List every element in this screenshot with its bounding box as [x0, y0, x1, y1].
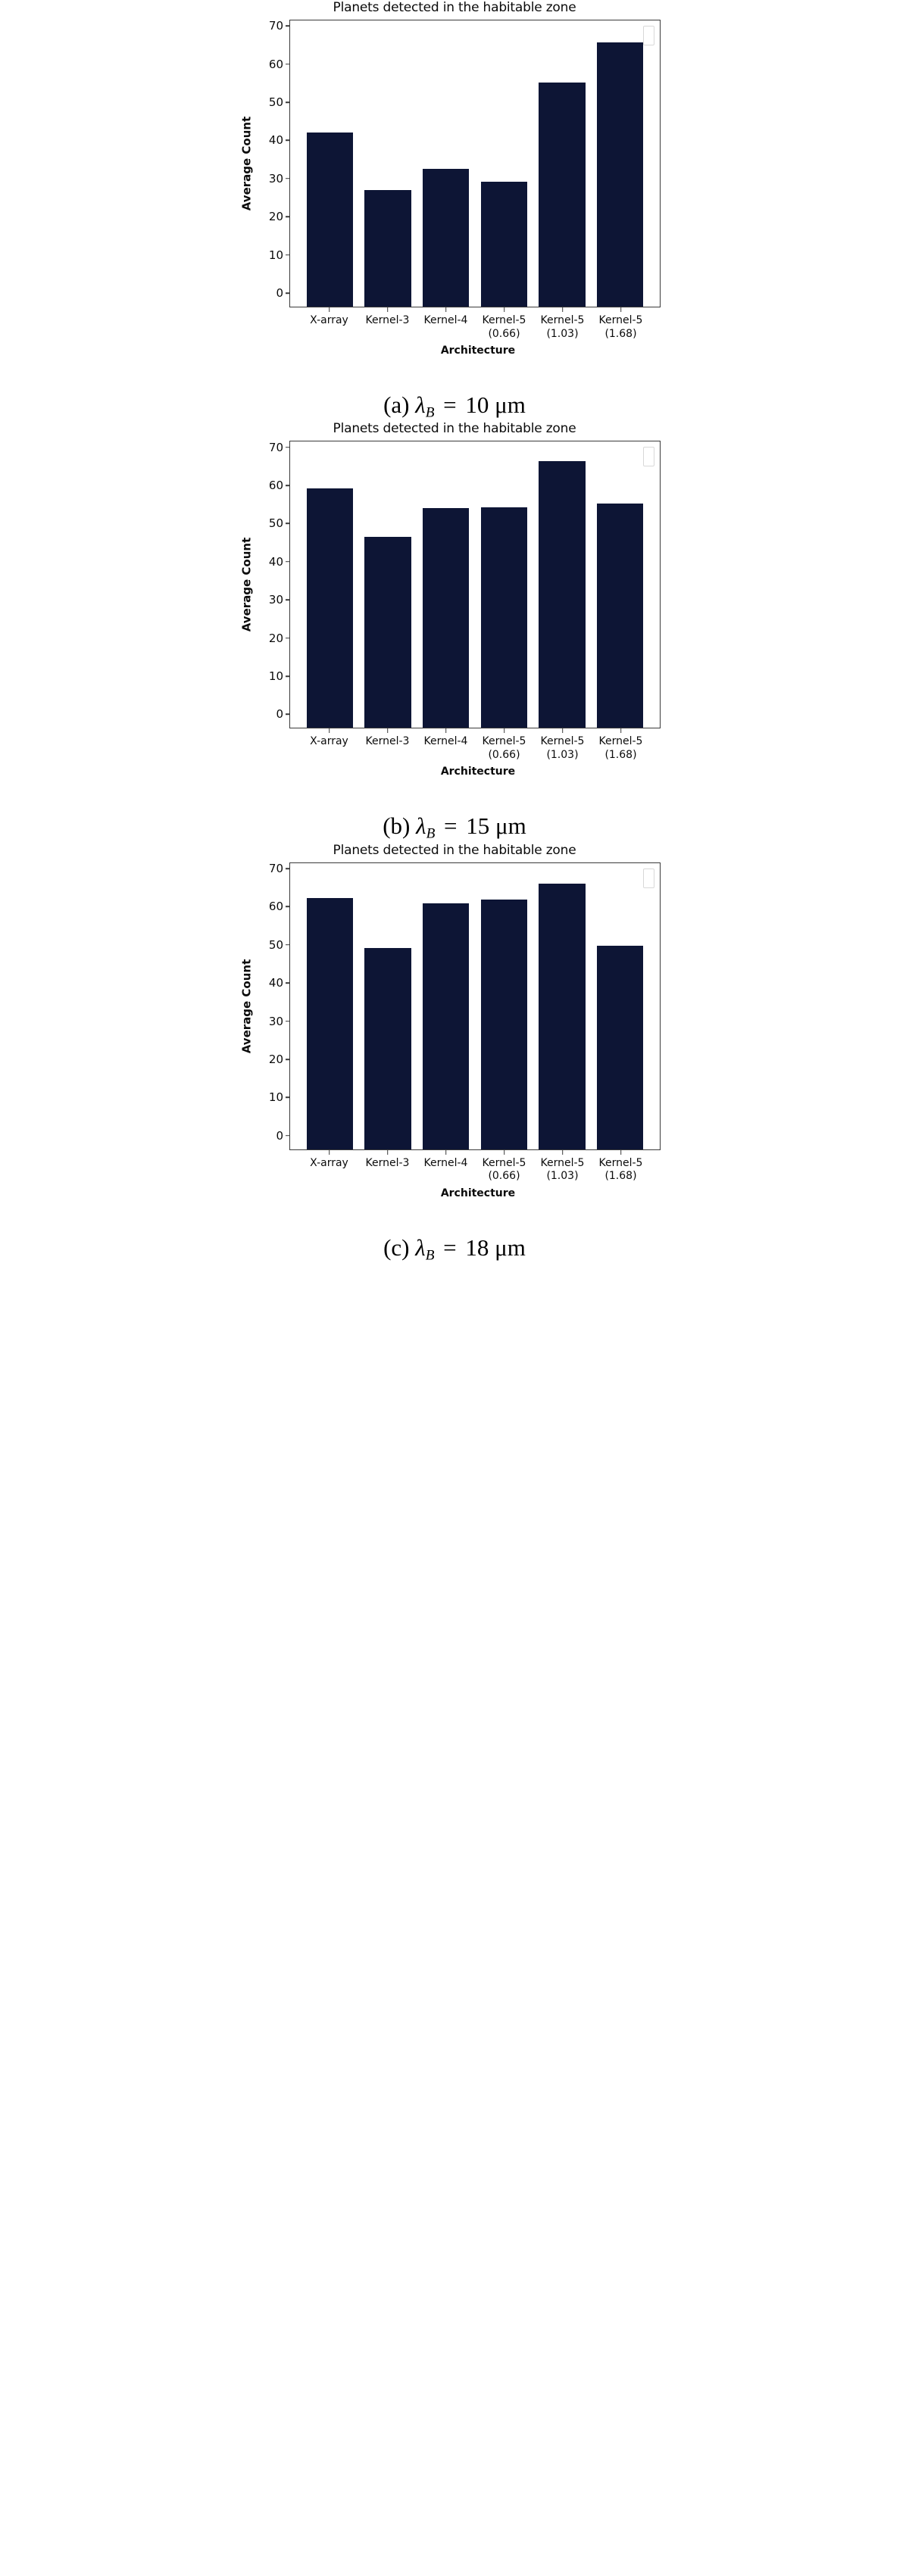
caption-subscript: B: [426, 1247, 435, 1263]
y-axis-label: Average Count: [238, 441, 255, 728]
y-tick: 0: [276, 286, 290, 300]
bar-slot: [533, 863, 592, 1149]
caption-subscript: B: [426, 404, 435, 420]
bar[interactable]: [423, 903, 469, 1149]
x-tick-label: Kernel-5(1.03): [533, 728, 592, 762]
bar-slot: [533, 441, 592, 728]
bar-slot: [417, 441, 475, 728]
caption-index: (a): [383, 391, 409, 418]
x-tick-label: Kernel-4: [417, 1150, 475, 1184]
y-axis-label: Average Count: [238, 862, 255, 1150]
x-axis-label: Architecture: [242, 762, 667, 778]
caption-lambda: λ: [415, 391, 425, 418]
panel-b: Planets detected in the habitable zone A…: [0, 421, 909, 842]
bar[interactable]: [307, 898, 353, 1149]
y-tick: 10: [269, 248, 290, 262]
x-tick-label: Kernel-3: [358, 1150, 417, 1184]
x-ticks-c: X-array Kernel-3 Kernel-4 Kernel-5(0.66)…: [242, 1150, 667, 1184]
caption-lambda: λ: [416, 812, 426, 839]
bar-slot: [475, 441, 533, 728]
figure-b: Planets detected in the habitable zone A…: [242, 421, 667, 778]
y-tick: 30: [269, 172, 290, 186]
chart-title: Planets detected in the habitable zone: [242, 843, 667, 862]
bar-slot: [359, 20, 417, 307]
bar[interactable]: [539, 83, 585, 307]
y-tick: 70: [269, 441, 290, 454]
y-tick: 50: [269, 938, 290, 952]
caption-equals: =: [440, 391, 459, 418]
bar-slot: [591, 20, 649, 307]
x-axis-label: Architecture: [242, 341, 667, 357]
y-tick: 20: [269, 632, 290, 645]
bar[interactable]: [364, 537, 411, 728]
caption-equals: =: [441, 812, 460, 839]
bar-slot: [417, 863, 475, 1149]
x-tick-label: Kernel-5(0.66): [475, 1150, 533, 1184]
chart-title: Planets detected in the habitable zone: [242, 0, 667, 20]
x-tick-label: Kernel-3: [358, 728, 417, 762]
y-tick: 0: [276, 707, 290, 721]
plot-area-c: Average Count 0 10 20 30 40 50 60 70: [242, 862, 667, 1150]
bar[interactable]: [597, 946, 643, 1149]
x-axis-label: Architecture: [242, 1184, 667, 1199]
bar-group-a: [290, 20, 660, 307]
y-axis-label: Average Count: [238, 20, 255, 307]
caption-subscript: B: [426, 826, 436, 842]
bar[interactable]: [364, 190, 411, 307]
y-tick: 60: [269, 900, 290, 913]
bar[interactable]: [597, 504, 643, 728]
bar[interactable]: [423, 169, 469, 307]
y-tick: 70: [269, 862, 290, 875]
caption-index: (c): [383, 1234, 409, 1261]
y-tick: 30: [269, 593, 290, 607]
x-tick-label: Kernel-5(1.68): [592, 728, 650, 762]
x-ticks-b: X-array Kernel-3 Kernel-4 Kernel-5(0.66)…: [242, 728, 667, 762]
axes-c: 0 10 20 30 40 50 60 70: [289, 862, 661, 1150]
x-tick-label: Kernel-4: [417, 307, 475, 341]
panel-caption-c: (c) λB = 18 μm: [0, 1199, 909, 1264]
y-tick: 60: [269, 58, 290, 71]
caption-value: 10 μm: [465, 391, 525, 418]
panel-a: Planets detected in the habitable zone A…: [0, 0, 909, 421]
bar-slot: [533, 20, 592, 307]
caption-value: 18 μm: [465, 1234, 525, 1261]
bar[interactable]: [364, 948, 411, 1149]
figure-c: Planets detected in the habitable zone A…: [242, 843, 667, 1199]
y-tick: 20: [269, 210, 290, 223]
panel-caption-a: (a) λB = 10 μm: [0, 357, 909, 421]
x-tick-label: Kernel-5(1.03): [533, 1150, 592, 1184]
x-tick-label: X-array: [300, 307, 358, 341]
caption-index: (b): [383, 812, 410, 839]
bar[interactable]: [307, 488, 353, 728]
x-tick-label: Kernel-5(0.66): [475, 307, 533, 341]
bar[interactable]: [481, 900, 527, 1149]
y-tick: 10: [269, 669, 290, 683]
y-tick: 70: [269, 19, 290, 33]
y-tick: 40: [269, 976, 290, 990]
x-tick-label: Kernel-5(1.68): [592, 1150, 650, 1184]
y-tick: 40: [269, 133, 290, 147]
x-tick-label: Kernel-5(1.68): [592, 307, 650, 341]
bar[interactable]: [481, 182, 527, 307]
bar[interactable]: [539, 884, 585, 1149]
bar-group-b: [290, 441, 660, 728]
y-tick: 40: [269, 555, 290, 569]
x-tick-label: Kernel-4: [417, 728, 475, 762]
axes-a: 0 10 20 30 40 50 60 70: [289, 20, 661, 307]
figure-page: Planets detected in the habitable zone A…: [0, 0, 909, 2576]
y-tick: 0: [276, 1129, 290, 1143]
caption-value: 15 μm: [466, 812, 526, 839]
y-tick: 10: [269, 1090, 290, 1104]
bar[interactable]: [423, 508, 469, 728]
bar[interactable]: [597, 42, 643, 307]
axes-b: 0 10 20 30 40 50 60 70: [289, 441, 661, 728]
y-tick: 20: [269, 1053, 290, 1066]
y-tick: 50: [269, 516, 290, 530]
bar[interactable]: [307, 133, 353, 307]
chart-title: Planets detected in the habitable zone: [242, 421, 667, 441]
plot-area-b: Average Count 0 10 20 30 40 50 60 70: [242, 441, 667, 728]
plot-area-a: Average Count 0 10 20 30 40 50 60 70: [242, 20, 667, 307]
y-tick: 60: [269, 479, 290, 492]
x-tick-label: X-array: [300, 1150, 358, 1184]
bar-slot: [475, 863, 533, 1149]
y-tick: 50: [269, 95, 290, 109]
bar-slot: [359, 441, 417, 728]
bar-slot: [301, 20, 359, 307]
caption-lambda: λ: [415, 1234, 425, 1261]
panel-caption-b: (b) λB = 15 μm: [0, 778, 909, 842]
bar-slot: [591, 441, 649, 728]
bar-slot: [301, 863, 359, 1149]
y-tick: 30: [269, 1015, 290, 1028]
x-tick-label: Kernel-5(0.66): [475, 728, 533, 762]
bar-slot: [359, 863, 417, 1149]
x-tick-label: Kernel-5(1.03): [533, 307, 592, 341]
caption-equals: =: [440, 1234, 459, 1261]
bar-slot: [475, 20, 533, 307]
bar[interactable]: [481, 507, 527, 728]
bar[interactable]: [539, 461, 585, 728]
figure-a: Planets detected in the habitable zone A…: [242, 0, 667, 357]
x-tick-label: Kernel-3: [358, 307, 417, 341]
x-tick-label: X-array: [300, 728, 358, 762]
panel-c: Planets detected in the habitable zone A…: [0, 843, 909, 1264]
bar-slot: [591, 863, 649, 1149]
x-ticks-a: X-array Kernel-3 Kernel-4 Kernel-5(0.66)…: [242, 307, 667, 341]
bar-slot: [417, 20, 475, 307]
bar-group-c: [290, 863, 660, 1149]
bar-slot: [301, 441, 359, 728]
